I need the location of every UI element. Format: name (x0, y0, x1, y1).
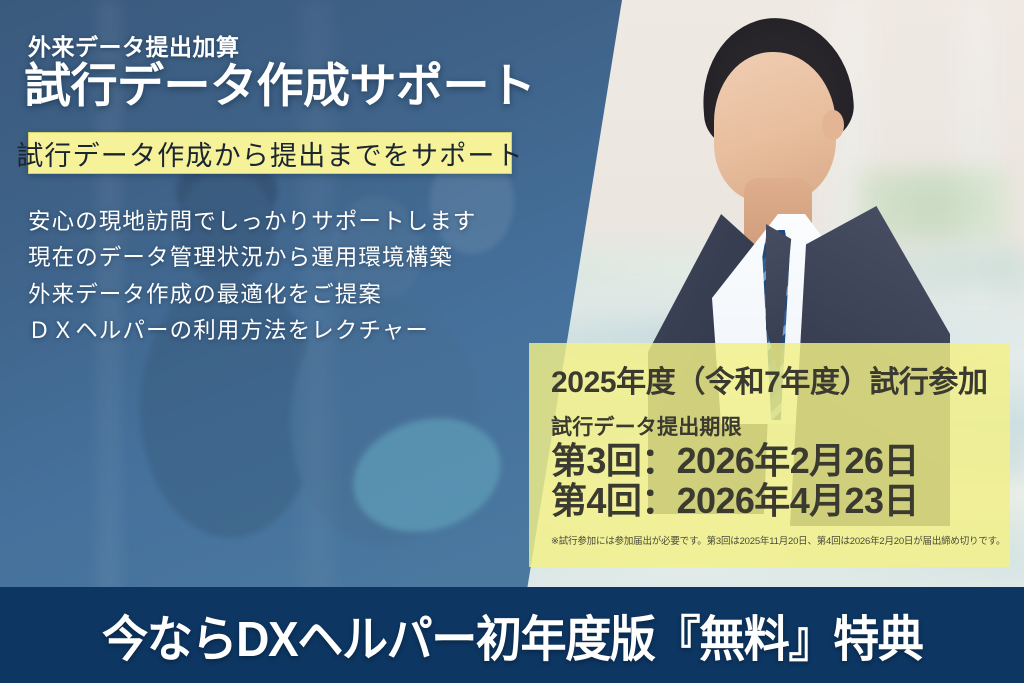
deadline-round-4: 第4回：2026年4月23日 (551, 481, 996, 521)
page-title: 試行データ作成サポート (24, 62, 536, 109)
feature-list: 安心の現地訪問でしっかりサポートします 現在のデータ管理状況から運用環境構築 外… (28, 204, 498, 350)
card-subtitle: 試行データ提出期限 (551, 411, 996, 441)
tagline-text: 試行データ作成から提出までをサポート (16, 134, 524, 173)
card-footnote: ※試行参加には参加届出が必要です。第3回は2025年11月20日、第4回は202… (551, 533, 996, 547)
list-item: 現在のデータ管理状況から運用環境構築 (28, 240, 498, 276)
trial-schedule-card: 2025年度（令和7年度）試行参加 試行データ提出期限 第3回：2026年2月2… (529, 343, 1010, 567)
card-title: 2025年度（令和7年度）試行参加 (551, 357, 996, 401)
deadline-round-3: 第3回：2026年2月26日 (551, 441, 996, 481)
tagline-highlight-box: 試行データ作成から提出までをサポート (28, 132, 512, 174)
promo-banner: 外来データ提出加算 試行データ作成サポート 試行データ作成から提出までをサポート… (0, 0, 1024, 683)
list-item: 安心の現地訪問でしっかりサポートします (28, 204, 498, 240)
promo-text: 今ならDXヘルパー初年度版『無料』特典 (102, 600, 922, 671)
man-ear (822, 110, 844, 140)
list-item: 外来データ作成の最適化をご提案 (28, 277, 498, 313)
kicker-label: 外来データ提出加算 (28, 28, 240, 62)
promo-bottom-bar: 今ならDXヘルパー初年度版『無料』特典 (0, 587, 1024, 683)
list-item: ＤＸヘルパーの利用方法をレクチャー (28, 313, 498, 349)
